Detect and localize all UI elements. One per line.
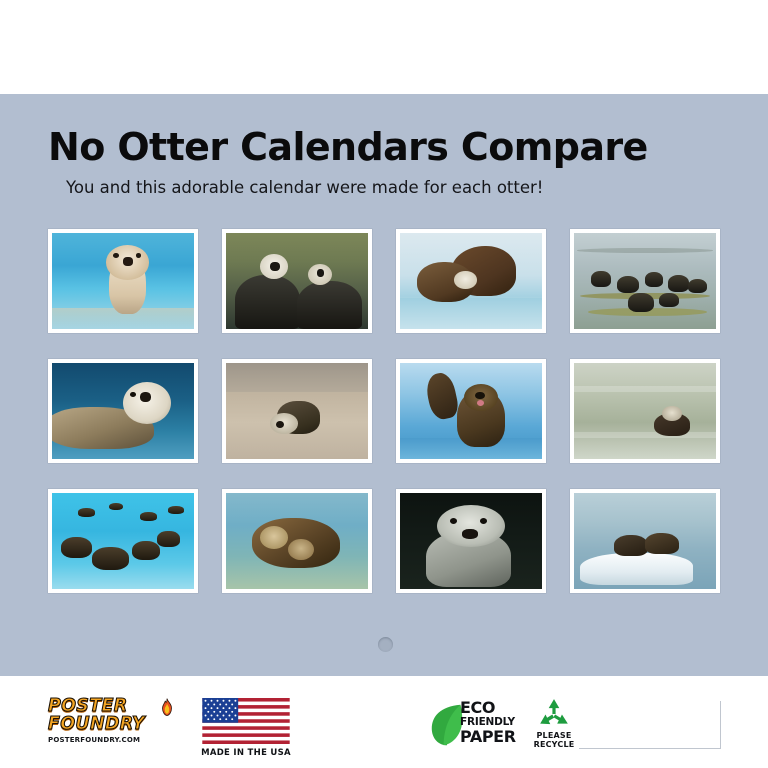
calendar-back-panel: No Otter Calendars Compare You and this … [0,94,768,676]
otter-photo-10 [226,493,368,589]
poster-foundry-word-line1: POSTER [48,698,172,715]
leaf-icon [430,703,464,747]
footer-badges-row: POSTER FOUNDRY POSTERFOUNDRY.COM [0,690,768,768]
otter-photo-12 [574,493,716,589]
photo-frame-4 [570,229,720,333]
eco-text-block: ECO FRIENDLY PAPER [460,700,516,745]
photo-frame-12 [570,489,720,593]
flame-icon [160,698,174,716]
photo-frame-6 [222,359,372,463]
photo-frame-5 [48,359,198,463]
made-in-usa-label: MADE IN THE USA [186,748,306,758]
otter-photo-8 [574,363,716,459]
otter-photo-2 [226,233,368,329]
punch-hole-indicator [378,637,393,652]
eco-line-3: PAPER [460,729,516,745]
eco-friendly-paper-badge: ECO FRIENDLY PAPER [430,700,520,752]
otter-photo-1 [52,233,194,329]
headline-block: No Otter Calendars Compare You and this … [48,128,738,197]
poster-foundry-word-line2: FOUNDRY [48,716,172,733]
otter-photo-6 [226,363,368,459]
photo-frame-8 [570,359,720,463]
photo-grid [48,229,720,593]
usa-flag-icon [202,698,290,744]
barcode-placeholder [578,700,720,748]
otter-photo-7 [400,363,542,459]
poster-foundry-logo: POSTER FOUNDRY POSTERFOUNDRY.COM [48,698,172,744]
recycle-line-2: RECYCLE [528,741,580,750]
photo-frame-3 [396,229,546,333]
photo-frame-1 [48,229,198,333]
product-image: No Otter Calendars Compare You and this … [0,0,768,768]
otter-photo-3 [400,233,542,329]
otter-photo-9 [52,493,194,589]
please-recycle-badge: PLEASE RECYCLE [528,698,580,750]
photo-frame-9 [48,489,198,593]
recycle-icon [537,698,571,730]
otter-photo-4 [574,233,716,329]
eco-line-1: ECO [460,700,516,716]
page-title: No Otter Calendars Compare [48,128,738,168]
photo-frame-10 [222,489,372,593]
page-subtitle: You and this adorable calendar were made… [66,178,738,197]
otter-photo-11 [400,493,542,589]
poster-foundry-url: POSTERFOUNDRY.COM [48,736,172,744]
eco-line-2: FRIENDLY [460,717,516,728]
photo-frame-11 [396,489,546,593]
photo-frame-2 [222,229,372,333]
made-in-usa-block: MADE IN THE USA [186,698,306,758]
photo-frame-7 [396,359,546,463]
otter-photo-5 [52,363,194,459]
